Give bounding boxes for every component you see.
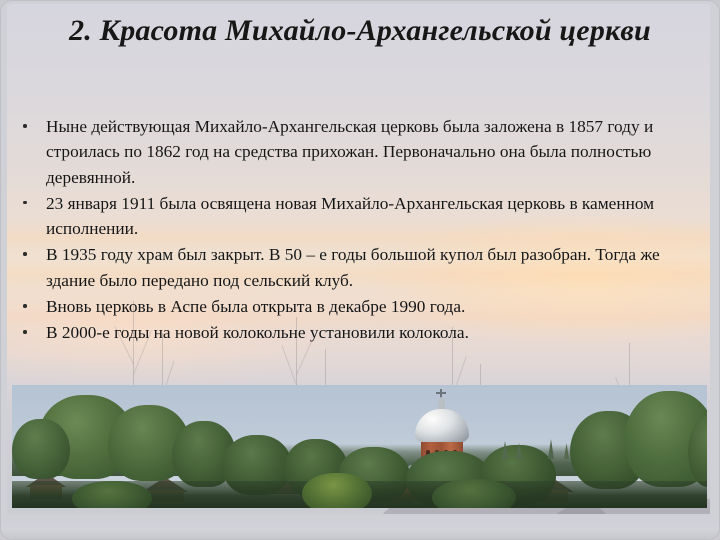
slide-edge-right xyxy=(710,0,720,540)
church-dome xyxy=(415,409,469,445)
church-photograph xyxy=(12,385,707,508)
page-title: 2. Красота Михайло-Архангельской церкви xyxy=(14,12,706,50)
list-item: Ныне действующая Михайло-Архангельская ц… xyxy=(14,114,704,190)
list-item-text: В 2000-е годы на новой колокольне устано… xyxy=(46,323,469,342)
list-item: Вновь церковь в Аспе была открыта в дека… xyxy=(14,294,704,319)
bullet-marker-icon xyxy=(23,252,27,256)
foliage-tree xyxy=(302,473,372,508)
slide-frame: 2. Красота Михайло-Архангельской церкви … xyxy=(0,0,720,540)
slide-edge-top xyxy=(0,0,720,4)
foliage-tree xyxy=(432,479,516,508)
bullet-list: Ныне действующая Михайло-Архангельская ц… xyxy=(14,114,704,347)
presentation-slide: 2. Красота Михайло-Архангельской церкви … xyxy=(0,0,720,540)
slide-edge-bottom xyxy=(0,514,720,540)
bullet-marker-icon xyxy=(23,304,27,308)
list-item: В 1935 году храм был закрыт. В 50 – е го… xyxy=(14,242,704,293)
list-item-text: В 1935 году храм был закрыт. В 50 – е го… xyxy=(46,245,660,289)
list-item-text: 23 января 1911 была освящена новая Михай… xyxy=(46,194,654,238)
bullet-marker-icon xyxy=(23,330,27,334)
foliage-tree xyxy=(72,481,152,508)
bullet-marker-icon xyxy=(23,201,27,205)
list-item-text: Ныне действующая Михайло-Архангельская ц… xyxy=(46,117,653,187)
list-item: В 2000-е годы на новой колокольне устано… xyxy=(14,320,704,345)
bullet-marker-icon xyxy=(23,124,27,128)
foliage-tree xyxy=(12,419,70,479)
list-item-text: Вновь церковь в Аспе была открыта в дека… xyxy=(46,297,465,316)
list-item: 23 января 1911 была освящена новая Михай… xyxy=(14,191,704,242)
slide-edge-left xyxy=(0,0,7,540)
